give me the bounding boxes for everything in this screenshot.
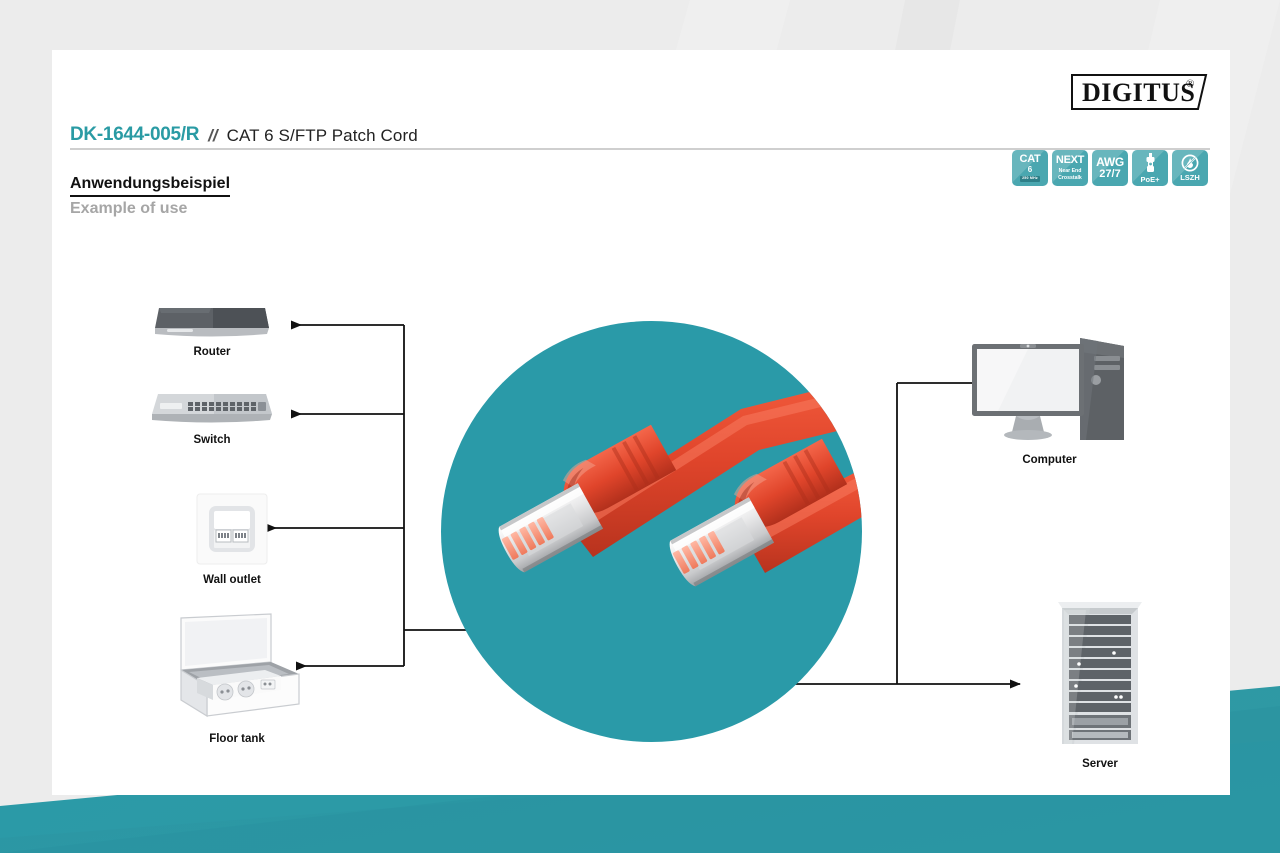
node-router-label: Router xyxy=(142,346,282,358)
badge-next-main: NEXT xyxy=(1056,155,1084,166)
product-sku: DK-1644-005/R xyxy=(70,124,199,146)
router-icon xyxy=(151,298,273,340)
badge-poe: PoE+ xyxy=(1132,150,1168,186)
floor-tank-icon xyxy=(167,612,307,727)
badge-cat6-sub: 6 xyxy=(1028,166,1032,174)
patch-cord-image xyxy=(441,321,862,742)
svg-text:DIGITUS: DIGITUS xyxy=(1082,78,1195,107)
node-floor-tank: Floor tank xyxy=(152,612,322,745)
badge-cat6: CAT 6 250 MHz xyxy=(1012,150,1048,186)
badge-cat6-main: CAT xyxy=(1020,154,1041,165)
svg-text:®: ® xyxy=(1186,78,1194,90)
node-wall-outlet-label: Wall outlet xyxy=(162,574,302,586)
node-floor-tank-label: Floor tank xyxy=(152,733,322,745)
no-flame-circle-icon xyxy=(1181,154,1199,172)
badge-awg-sub: 27/7 xyxy=(1099,169,1120,180)
title-separator: // xyxy=(208,126,217,146)
node-wall-outlet: Wall outlet xyxy=(162,490,302,586)
application-diagram: Router xyxy=(52,240,1230,795)
badge-lszh: LSZH xyxy=(1172,150,1208,186)
node-server: Server xyxy=(1017,592,1183,770)
badge-poe-label: PoE+ xyxy=(1141,176,1160,184)
switch-icon xyxy=(148,386,276,428)
node-switch-label: Switch xyxy=(140,434,284,446)
node-server-label: Server xyxy=(1017,758,1183,770)
section-heading-en: Example of use xyxy=(70,200,187,218)
node-computer-label: Computer xyxy=(962,454,1137,466)
badge-next: NEXT Near End Crosstalk xyxy=(1052,150,1088,186)
badge-next-line2: Crosstalk xyxy=(1058,175,1082,182)
badge-lszh-label: LSZH xyxy=(1180,174,1200,182)
feature-badge-row: CAT 6 250 MHz NEXT Near End Crosstalk AW… xyxy=(1012,150,1208,186)
wall-outlet-icon xyxy=(193,490,271,568)
node-router: Router xyxy=(142,298,282,358)
badge-awg: AWG 27/7 xyxy=(1092,150,1128,186)
product-name: CAT 6 S/FTP Patch Cord xyxy=(227,126,418,146)
poe-plug-icon xyxy=(1144,153,1157,174)
product-title-row: DK-1644-005/R // CAT 6 S/FTP Patch Cord xyxy=(70,112,1210,146)
digitus-logo: DIGITUS ® xyxy=(1068,67,1210,113)
content-card: DIGITUS ® DK-1644-005/R // CAT 6 S/FTP P… xyxy=(52,50,1230,795)
server-icon xyxy=(1052,592,1148,752)
section-heading-de: Anwendungsbeispiel xyxy=(70,175,230,197)
badge-awg-main: AWG xyxy=(1096,156,1124,168)
node-switch: Switch xyxy=(140,386,284,446)
badge-cat6-bandwidth: 250 MHz xyxy=(1020,176,1040,182)
node-computer: Computer xyxy=(962,332,1137,466)
computer-icon xyxy=(968,332,1131,448)
